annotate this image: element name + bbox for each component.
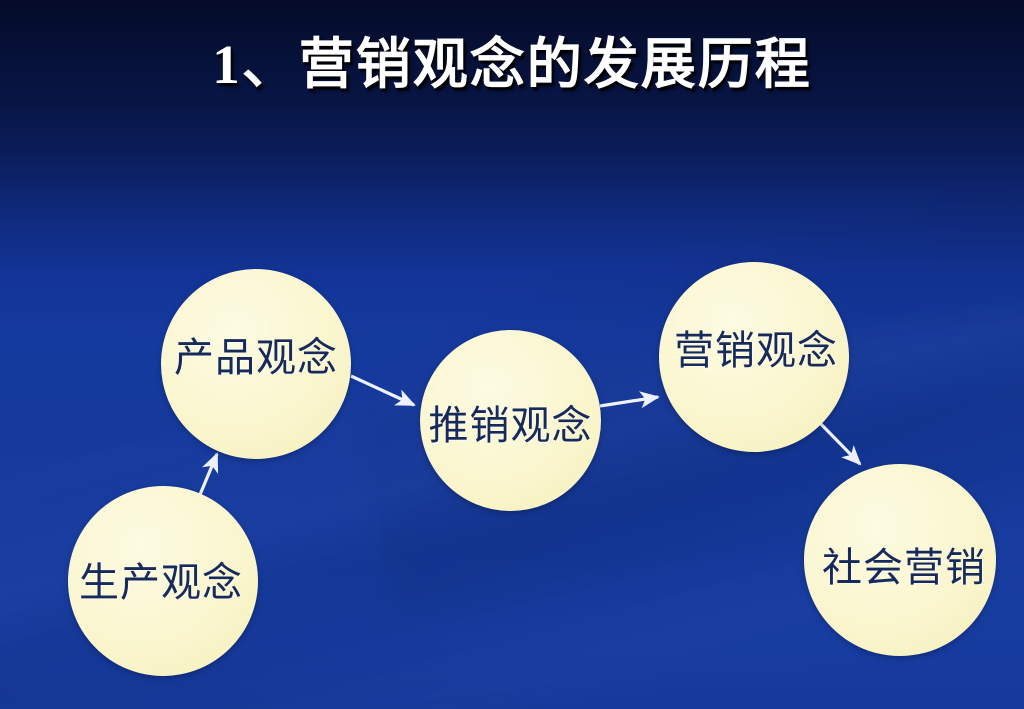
arrow-marketing-to-societal xyxy=(817,420,860,464)
node-label: 社会营销 xyxy=(822,548,986,588)
node-label: 生产观念 xyxy=(79,563,243,603)
arrow-product-to-selling xyxy=(351,376,414,405)
node-selling-concept[interactable]: 推销观念 xyxy=(420,330,601,511)
node-product-concept[interactable]: 产品观念 xyxy=(161,269,351,459)
node-label: 推销观念 xyxy=(429,406,593,446)
node-label: 营销观念 xyxy=(674,331,838,371)
node-societal-marketing-concept[interactable]: 社会营销 xyxy=(804,464,996,656)
node-label: 产品观念 xyxy=(174,338,338,378)
arrow-production-to-product xyxy=(199,454,217,497)
node-marketing-concept[interactable]: 营销观念 xyxy=(659,262,849,452)
arrow-selling-to-marketing xyxy=(600,397,658,406)
presentation-slide: 1、营销观念的发展历程 生产观念 产品观念 推销观念 营销观念 社会营销 xyxy=(0,0,1024,709)
node-production-concept[interactable]: 生产观念 xyxy=(68,486,258,676)
slide-title: 1、营销观念的发展历程 xyxy=(0,30,1024,100)
